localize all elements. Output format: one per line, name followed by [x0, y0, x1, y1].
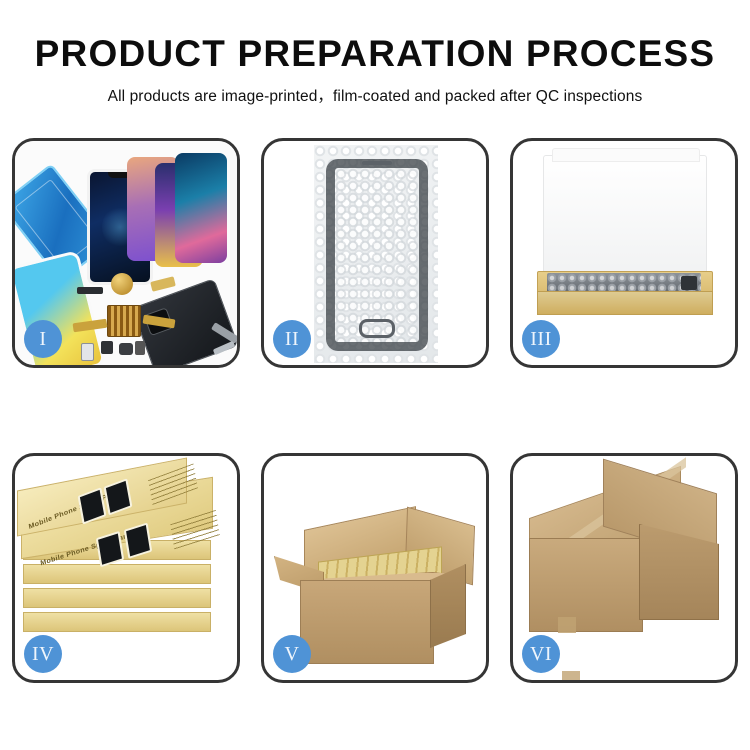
- step-badge-6: VI: [522, 635, 560, 673]
- process-step-grid: I II: [12, 138, 738, 683]
- kraft-box-front-wall: [537, 291, 713, 315]
- process-step-2: II: [261, 138, 489, 368]
- connector-bar-icon: [77, 287, 103, 294]
- tape-tab: [562, 671, 580, 683]
- small-part-icon: [81, 343, 94, 361]
- teal-phone: [175, 153, 227, 263]
- process-step-3: III: [510, 138, 738, 368]
- product-preparation-infographic: PRODUCT PREPARATION PROCESS All products…: [0, 0, 750, 750]
- page-subtitle: All products are image-printed，film-coat…: [0, 84, 750, 106]
- step-badge-4: IV: [24, 635, 62, 673]
- step-badge-3: III: [522, 320, 560, 358]
- carton-front-face: [300, 580, 434, 664]
- stacked-box-layer: [23, 588, 211, 608]
- box-product-thumbnail: [78, 487, 107, 524]
- small-part-icon: [135, 341, 145, 355]
- flex-cable-icon: [150, 276, 176, 292]
- box-product-thumbnail: [96, 531, 124, 567]
- white-foam-lining: [543, 155, 707, 279]
- process-step-1: I: [12, 138, 240, 368]
- small-part-icon: [101, 341, 113, 354]
- stacked-box-layer: [23, 564, 211, 584]
- carton-front-face: [529, 538, 643, 632]
- process-step-5: V: [261, 453, 489, 683]
- sealed-carton-illustration: [529, 482, 721, 658]
- header: PRODUCT PREPARATION PROCESS All products…: [0, 0, 750, 106]
- stacked-box-layer: [23, 612, 211, 632]
- home-button-icon: [359, 319, 395, 338]
- process-step-4: Mobile Phone Spare Parts Mobile Phone Sp…: [12, 453, 240, 683]
- step-badge-1: I: [24, 320, 62, 358]
- process-step-6: VI: [510, 453, 738, 683]
- small-part-icon: [119, 343, 133, 355]
- ic-chip-icon: [107, 305, 141, 337]
- page-title: PRODUCT PREPARATION PROCESS: [0, 34, 750, 75]
- screen-assembly-outline: [326, 159, 428, 351]
- speaker-component-icon: [111, 273, 133, 295]
- step-badge-5: V: [273, 635, 311, 673]
- step-badge-2: II: [273, 320, 311, 358]
- box-product-thumbnail: [104, 478, 133, 515]
- tape-tab: [558, 617, 576, 633]
